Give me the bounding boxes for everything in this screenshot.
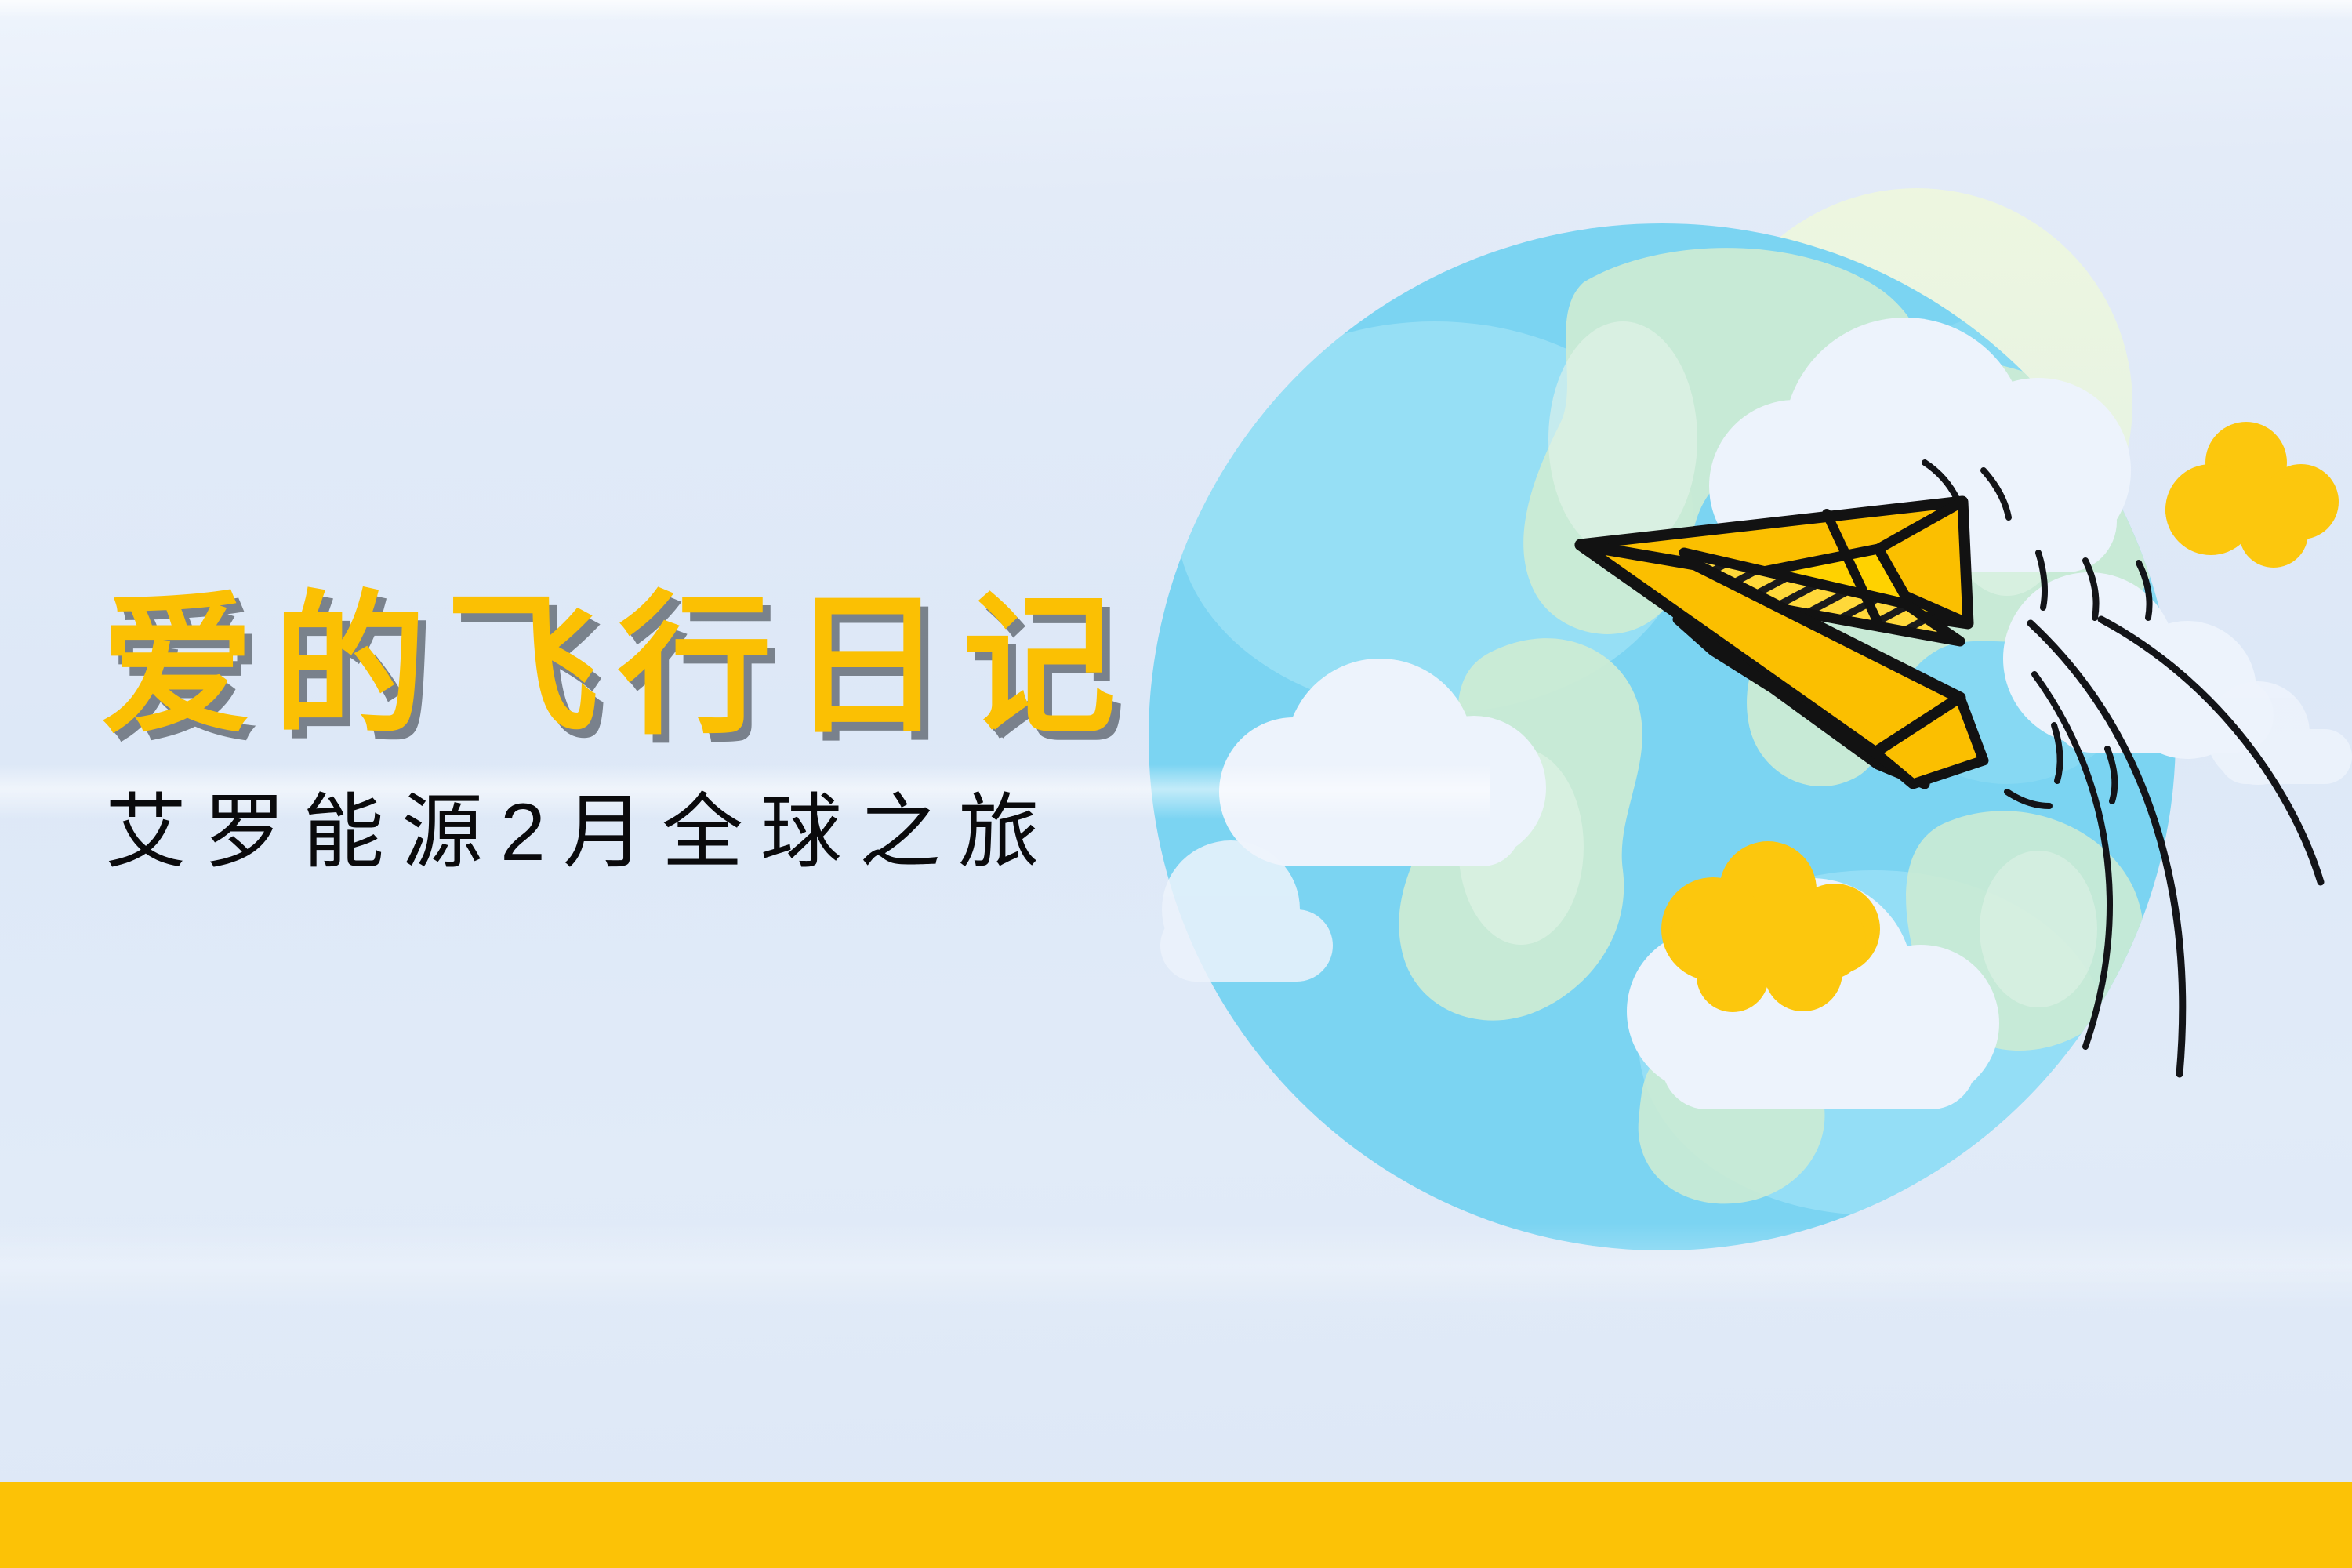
slide-canvas: 爱的飞行日记 艾罗能源2月全球之旅	[0, 0, 2352, 1568]
bottom-accent-bar	[0, 1482, 2352, 1568]
title-block: 爱的飞行日记 艾罗能源2月全球之旅	[100, 590, 1135, 873]
page-subtitle: 艾罗能源2月全球之旅	[105, 792, 1135, 873]
page-title: 爱的飞行日记	[100, 590, 1135, 743]
